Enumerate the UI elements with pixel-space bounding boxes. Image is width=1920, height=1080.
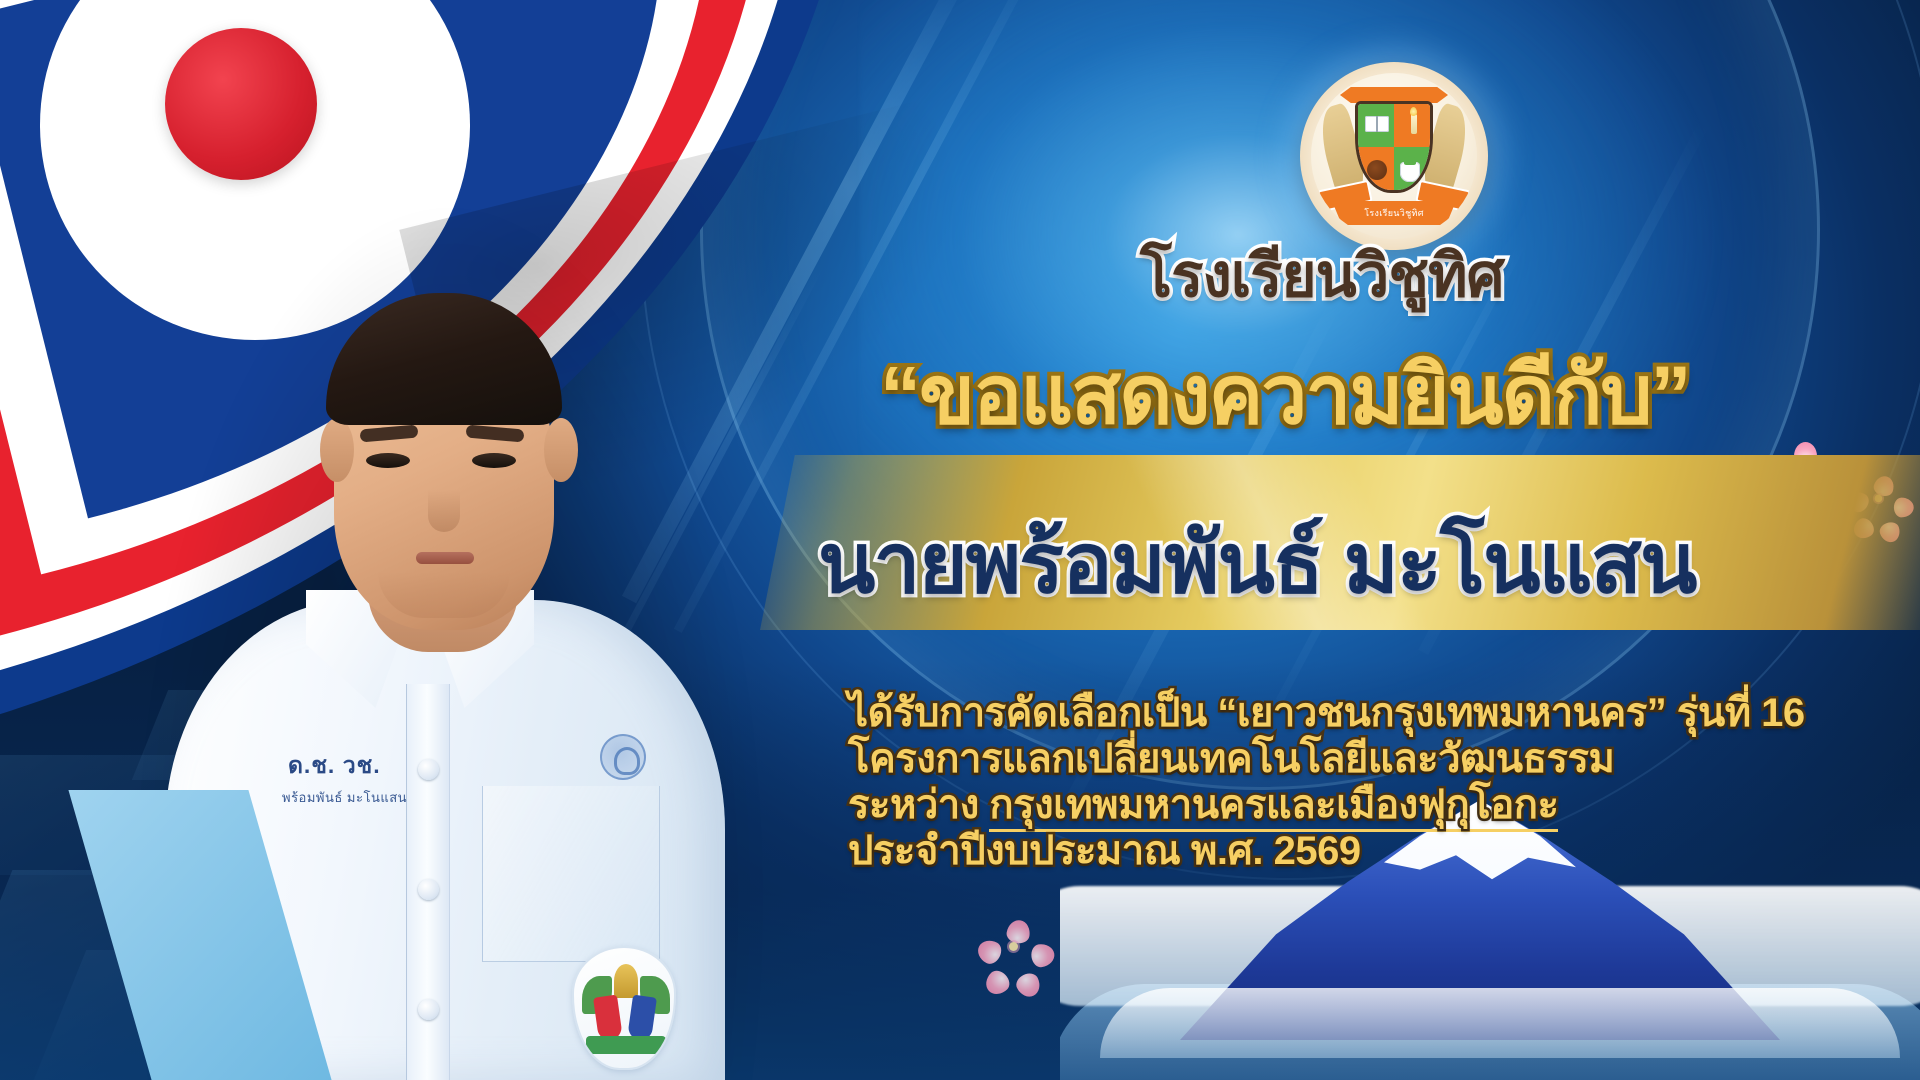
crest-bottom-ribbon: โรงเรียนวิชูทิศ bbox=[1332, 201, 1456, 225]
uniform-pocket bbox=[482, 786, 660, 962]
fuji-foreground-wave bbox=[1100, 988, 1900, 1058]
congratulations-headline: “ขอแสดงความยินดีกับ” bbox=[880, 330, 1690, 460]
crest-shield bbox=[1355, 101, 1433, 193]
banner-canvas: ด.ช. วช. พร้อมพันธ์ มะโนแสน bbox=[0, 0, 1920, 1080]
uniform-embroidery-name: พร้อมพันธ์ มะโนแสน bbox=[282, 787, 407, 808]
award-line-2: โครงการแลกเปลี่ยนเทคโนโลยีและวัฒนธรรม bbox=[848, 736, 1908, 782]
seal-icon bbox=[1367, 160, 1387, 180]
vase-icon bbox=[1400, 162, 1420, 182]
award-line-3-cities: กรุงเทพมหานครและเมืองฟุกุโอกะ bbox=[989, 783, 1558, 832]
award-description: ได้รับการคัดเลือกเป็น “เยาวชนกรุงเทพมหาน… bbox=[848, 690, 1908, 874]
school-name-text: โรงเรียนวิชูทิศ bbox=[1140, 228, 1504, 323]
book-icon bbox=[1365, 116, 1389, 132]
honoree-name: นายพร้อมพันธ์ มะโนแสน bbox=[818, 495, 1695, 629]
award-line-3: ระหว่าง กรุงเทพมหานครและเมืองฟุกุโอกะ bbox=[848, 782, 1908, 828]
uniform-embroidery-initials: ด.ช. วช. bbox=[288, 748, 381, 784]
uniform-shoulder-logo-icon bbox=[600, 734, 646, 780]
crest-ribbon-text: โรงเรียนวิชูทิศ bbox=[1364, 206, 1424, 220]
sakura-blossom-accent bbox=[985, 918, 1041, 974]
award-line-1: ได้รับการคัดเลือกเป็น “เยาวชนกรุงเทพมหาน… bbox=[848, 690, 1908, 736]
uniform-crest-patch-icon bbox=[572, 946, 676, 1070]
award-line-3-prefix: ระหว่าง bbox=[848, 783, 989, 827]
candle-icon bbox=[1411, 114, 1417, 134]
student-portrait: ด.ช. วช. พร้อมพันธ์ มะโนแสน bbox=[110, 70, 770, 1080]
flame-icon bbox=[1410, 107, 1417, 116]
school-crest-icon: โรงเรียนวิชูทิศ bbox=[1300, 62, 1488, 250]
award-line-4: ประจำปีงบประมาณ พ.ศ. 2569 bbox=[848, 828, 1908, 874]
